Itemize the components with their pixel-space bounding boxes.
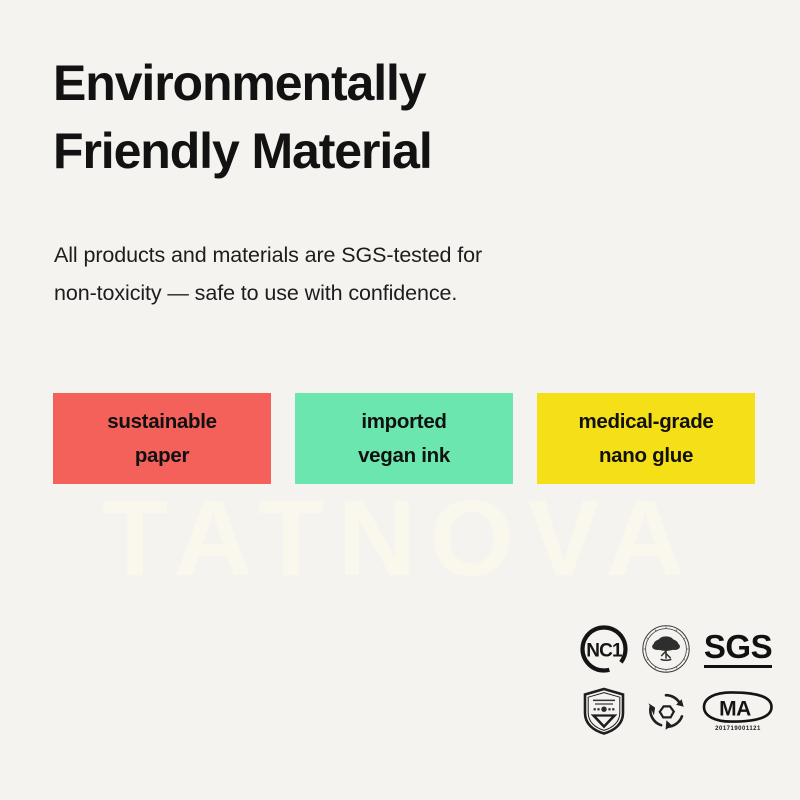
tag-imported-vegan-ink: imported vegan ink bbox=[295, 393, 513, 484]
page-title-line-2: Friendly Material bbox=[53, 117, 713, 185]
svg-text:NC1: NC1 bbox=[586, 641, 623, 662]
tag-label-line-1: imported bbox=[361, 405, 446, 438]
body-copy-line-1: All products and materials are SGS-teste… bbox=[54, 236, 654, 274]
tag-label-line-1: sustainable bbox=[107, 405, 217, 438]
nc1-certification-icon: NC1 bbox=[573, 623, 635, 675]
tag-sustainable-paper: sustainable paper bbox=[53, 393, 271, 484]
material-tag-row: sustainable paper imported vegan ink med… bbox=[53, 393, 755, 484]
svg-text:MA: MA bbox=[719, 698, 751, 721]
certification-badges: NC1 bbox=[573, 618, 779, 742]
body-copy-line-2: non-toxicity — safe to use with confiden… bbox=[54, 274, 654, 312]
page-title-line-1: Environmentally bbox=[53, 49, 713, 117]
certification-row-2: MA 201719001121 bbox=[573, 680, 779, 742]
brand-watermark: TATNOVA bbox=[0, 484, 800, 592]
tag-medical-grade-nano-glue: medical-grade nano glue bbox=[537, 393, 755, 484]
tag-label-line-1: medical-grade bbox=[578, 405, 713, 438]
body-copy: All products and materials are SGS-teste… bbox=[54, 236, 654, 313]
cma-certification-code: 201719001121 bbox=[715, 726, 761, 732]
cma-certification-icon: MA 201719001121 bbox=[697, 690, 779, 732]
recycling-arrows-icon bbox=[635, 686, 697, 736]
shield-certification-icon bbox=[573, 686, 635, 736]
poster-canvas: TATNOVA Environmentally Friendly Materia… bbox=[0, 0, 800, 800]
page-title: Environmentally Friendly Material bbox=[53, 49, 713, 185]
tag-label-line-2: vegan ink bbox=[358, 439, 450, 472]
sgs-wordmark-icon: SGS bbox=[697, 630, 779, 668]
tag-label-line-2: paper bbox=[135, 439, 189, 472]
forest-tree-seal-icon bbox=[635, 624, 697, 674]
tag-label-line-2: nano glue bbox=[599, 439, 693, 472]
certification-row-1: NC1 bbox=[573, 618, 779, 680]
sgs-wordmark-label: SGS bbox=[704, 630, 772, 668]
